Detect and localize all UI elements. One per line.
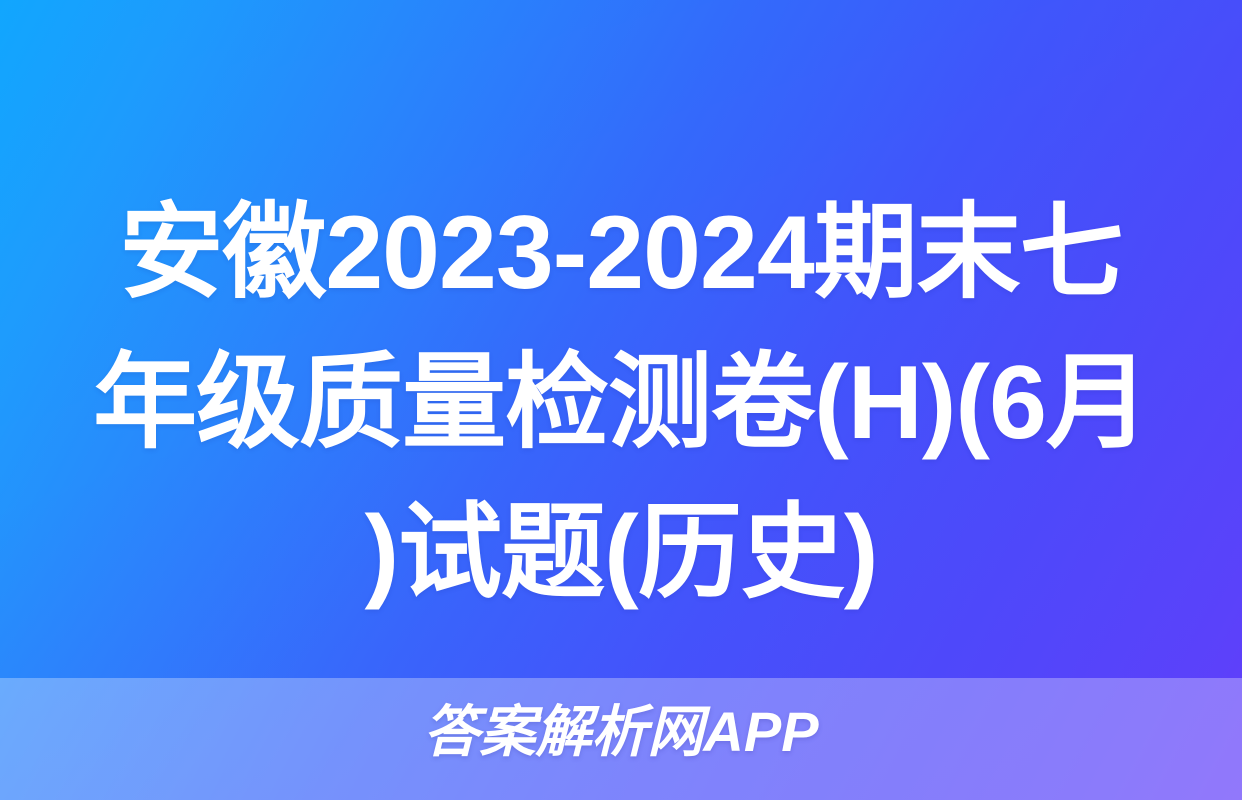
page-title: 安徽2023-2024期末七 年级质量检测卷(H)(6月 )试题(历史) (0, 178, 1242, 628)
title-line-3: )试题(历史) (58, 478, 1184, 628)
watermark-brand-text: 答案解析网APP (423, 700, 818, 764)
watermark: 答案解析网APP (0, 700, 1242, 764)
title-line-2: 年级质量检测卷(H)(6月 (58, 328, 1184, 478)
exam-cover-card: 安徽2023-2024期末七 年级质量检测卷(H)(6月 )试题(历史) 答案解… (0, 0, 1242, 800)
title-line-1: 安徽2023-2024期末七 (58, 178, 1184, 328)
